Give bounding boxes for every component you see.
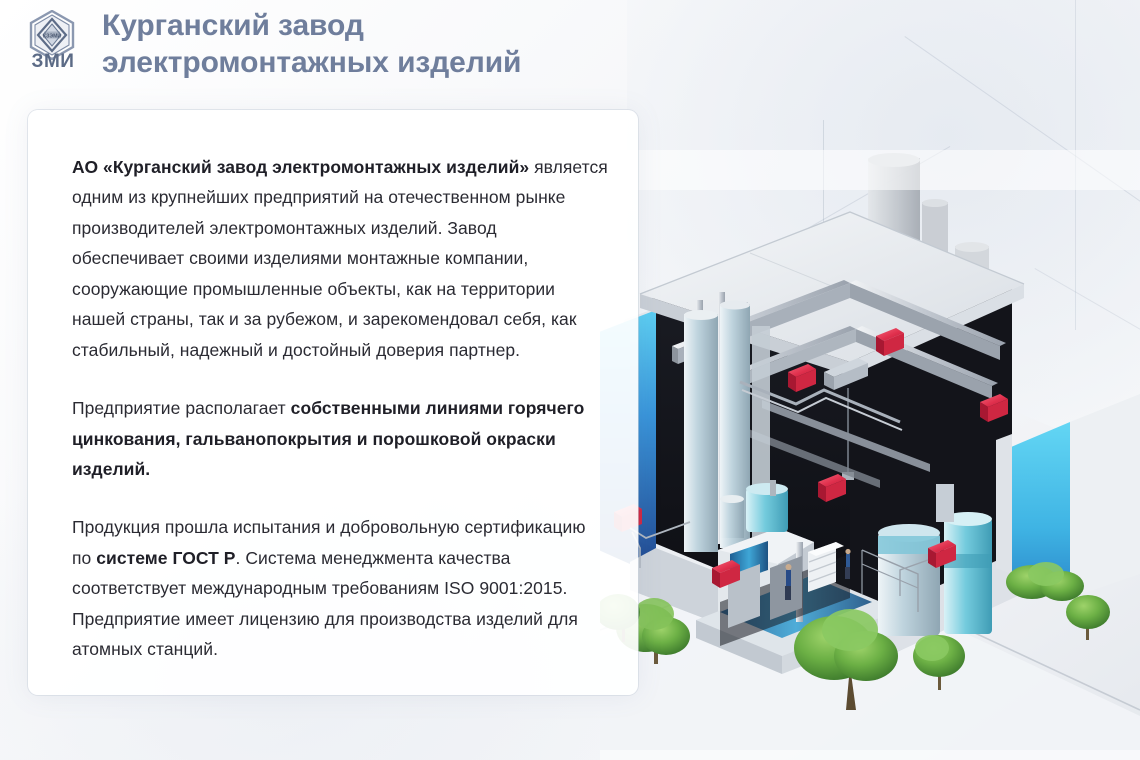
- page-title: Курганский завод электромонтажных издели…: [102, 6, 521, 81]
- page-title-line-2: электромонтажных изделий: [102, 45, 521, 82]
- paragraph-production-lines: Предприятие располагает собственными лин…: [72, 393, 608, 484]
- logo-wordmark: ЗМИ: [22, 52, 84, 71]
- page-title-line-1: Курганский завод: [102, 8, 521, 45]
- paragraph-company-intro: АО «Курганский завод электромонтажных из…: [72, 152, 608, 365]
- paragraph-text-run: является одним из крупнейших предприятий…: [72, 157, 608, 360]
- isometric-factory-illustration: [600, 150, 1140, 760]
- svg-text:КЗЭМИ: КЗЭМИ: [43, 34, 62, 40]
- paragraph-bold-run: системе ГОСТ Р: [96, 548, 235, 568]
- presentation-slide: КЗЭМИ ЗМИ Курганский завод электромонтаж…: [0, 0, 1140, 760]
- slide-header: КЗЭМИ ЗМИ Курганский завод электромонтаж…: [0, 0, 1140, 96]
- paragraph-text-run: Предприятие располагает: [72, 398, 291, 418]
- factory-cutaway-svg: [600, 150, 1140, 760]
- content-card: АО «Курганский завод электромонтажных из…: [28, 110, 638, 695]
- paragraph-bold-run: АО «Курганский завод электромонтажных из…: [72, 157, 534, 177]
- paragraph-certification: Продукция прошла испытания и добровольну…: [72, 512, 608, 664]
- company-logo: КЗЭМИ ЗМИ: [22, 10, 84, 82]
